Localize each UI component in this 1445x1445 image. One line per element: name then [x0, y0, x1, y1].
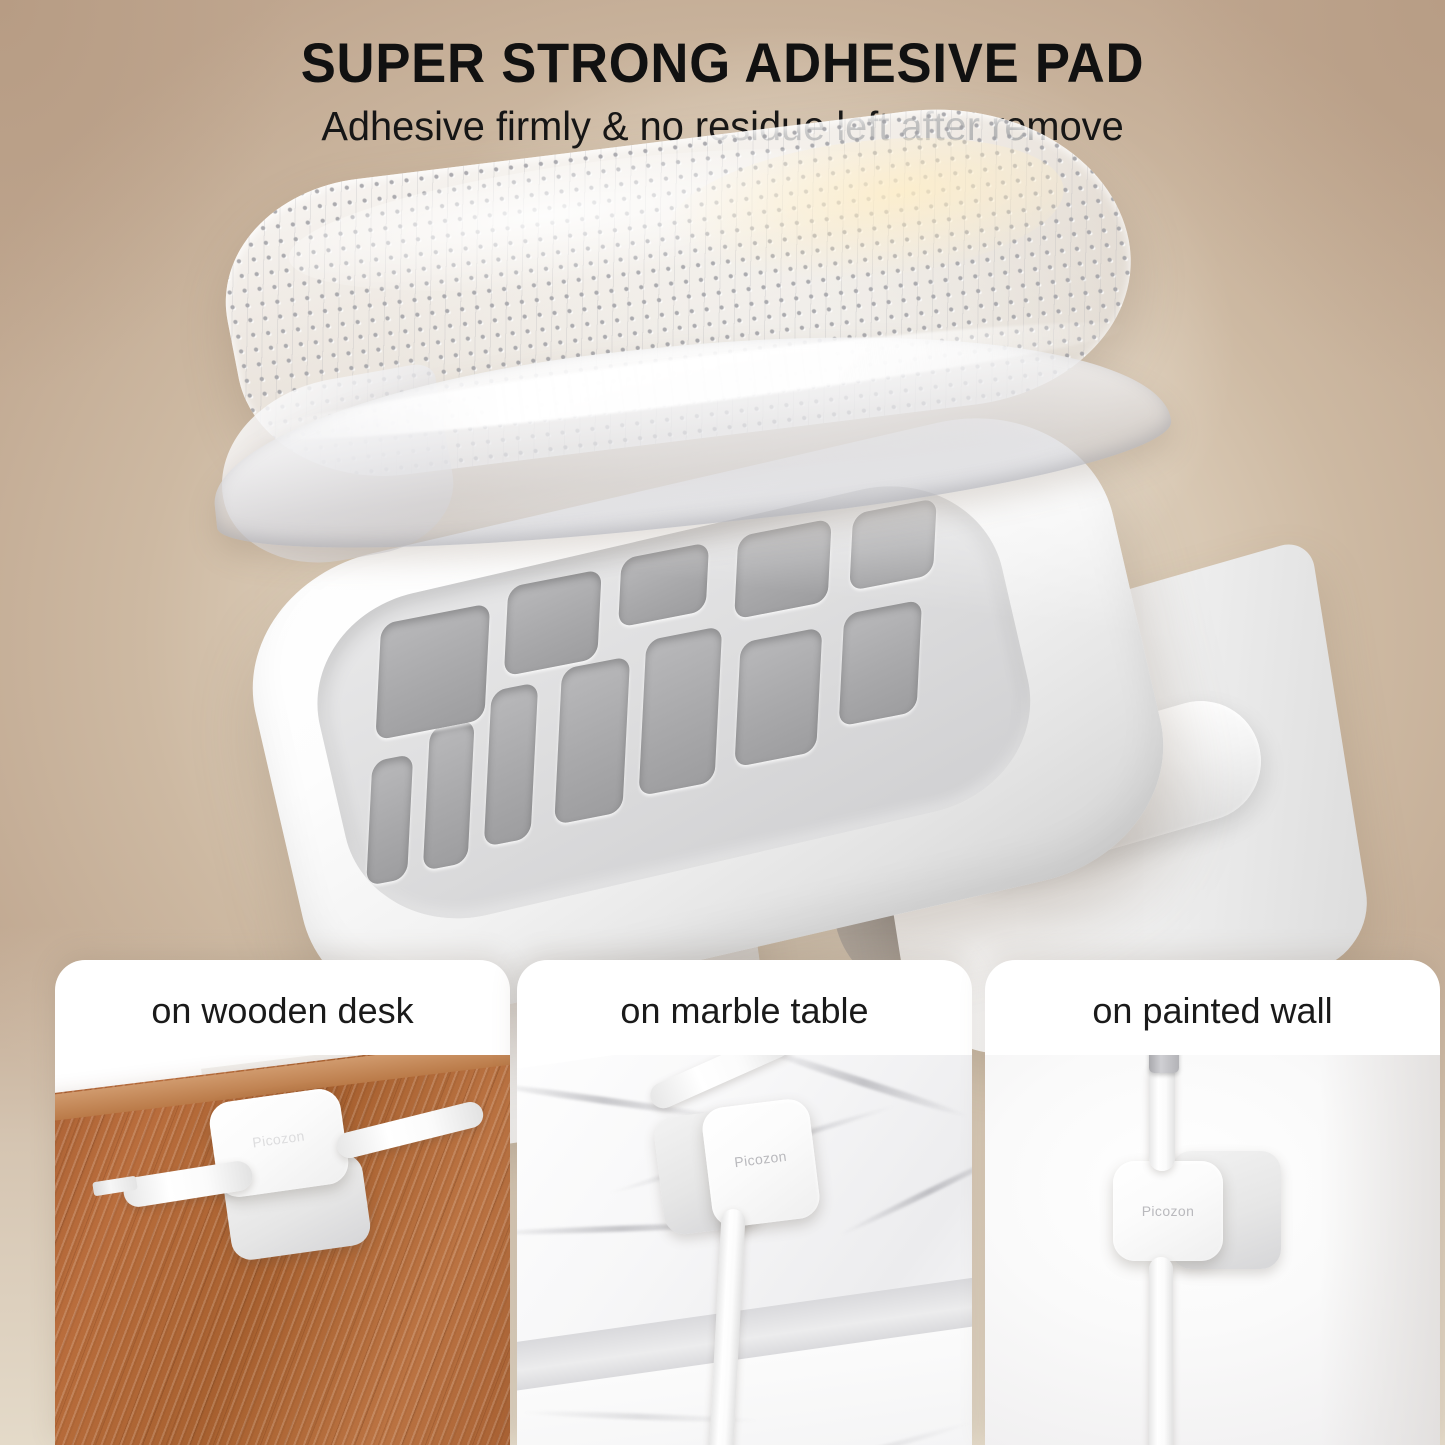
vent-slot: [554, 656, 630, 825]
hero-product-illustration: [0, 130, 1445, 1000]
cable-clip-device: Picozon: [205, 1095, 385, 1245]
vent-slot: [504, 569, 602, 676]
use-case-card-painted-wall: on painted wall Picozon: [985, 960, 1440, 1445]
card-label: on wooden desk: [55, 990, 510, 1032]
clip-brand-label: Picozon: [1113, 1203, 1223, 1219]
card-photo-wooden-desk: Picozon: [55, 1055, 510, 1445]
vent-slot: [734, 627, 822, 767]
clip-top-face: Picozon: [700, 1097, 822, 1229]
card-photo-painted-wall: Picozon: [985, 1055, 1440, 1445]
marble-vein: [838, 1145, 972, 1238]
product-marketing-image: SUPER STRONG ADHESIVE PAD Adhesive firml…: [0, 0, 1445, 1445]
cable-upper: [1149, 1061, 1175, 1171]
vent-slot: [375, 603, 490, 740]
usb-c-connector-tip: [1149, 1055, 1179, 1073]
clip-top-face: Picozon: [1113, 1161, 1223, 1261]
use-case-card-wooden-desk: on wooden desk Picozon: [55, 960, 510, 1445]
vent-slot: [839, 599, 922, 726]
vent-slot: [639, 626, 723, 796]
vent-slot: [423, 719, 475, 871]
page-headline: SUPER STRONG ADHESIVE PAD: [43, 30, 1401, 95]
use-case-card-marble-table: on marble table Picozon: [517, 960, 972, 1445]
wall-edge-shading: [1320, 1055, 1440, 1445]
vent-slot: [484, 682, 539, 847]
card-photo-marble-table: Picozon: [517, 1055, 972, 1445]
card-label: on marble table: [517, 990, 972, 1032]
marble-vein: [722, 1419, 972, 1445]
card-label: on painted wall: [985, 990, 1440, 1032]
vent-slot: [366, 754, 413, 886]
adhesive-gel-pad: [190, 130, 1230, 560]
clip-brand-label: Picozon: [706, 1145, 815, 1174]
cable-lower: [1149, 1257, 1173, 1445]
cable-clip-device: Picozon: [657, 1097, 847, 1267]
cable-clip-device: Picozon: [1105, 1145, 1305, 1345]
clip-brand-label: Picozon: [212, 1122, 345, 1156]
use-case-card-row: on wooden desk Picozon on marble table: [0, 960, 1445, 1445]
